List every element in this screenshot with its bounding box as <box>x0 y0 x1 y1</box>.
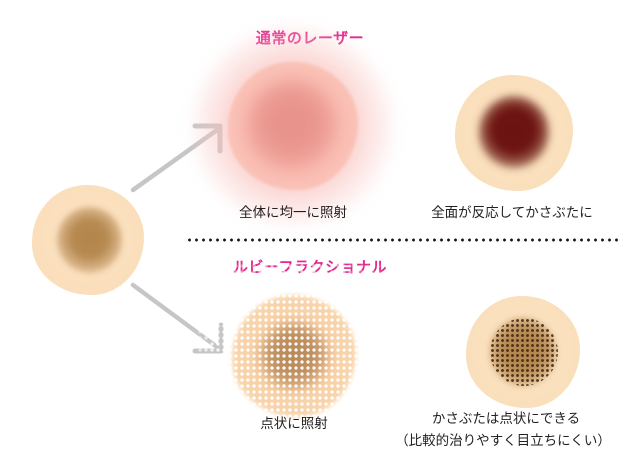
diagram-canvas: 通常のレーザー 全体に均一に照射 全面が反応してかさぶたに ルビーフラクショナル… <box>0 0 620 465</box>
caption-dotted-scab-line1: かさぶたは点状にできる <box>392 409 620 429</box>
section-title-ruby-fractional: ルビーフラクショナル <box>0 256 620 277</box>
figure-fractional-irradiation <box>232 295 356 417</box>
section-title-normal-laser: 通常のレーザー <box>0 27 620 48</box>
figure-full-surface-scab <box>455 75 573 191</box>
pigment-spot <box>490 318 556 385</box>
caption-dotted-scab-line2: （比較的治りやすく目立ちにくい） <box>386 431 620 451</box>
figure-dotted-scab <box>466 296 580 408</box>
caption-dotted-irradiation: 点状に照射 <box>232 414 356 434</box>
arrow-to-normal-laser-icon <box>125 112 235 197</box>
figure-source-skin-spot <box>32 185 144 295</box>
figure-uniform-irradiation <box>228 62 358 190</box>
pigment-spot-reacting <box>259 322 328 390</box>
arrow-to-ruby-fractional-icon <box>125 275 237 365</box>
section-divider <box>186 238 620 242</box>
caption-uniform-irradiation: 全体に均一に照射 <box>228 203 358 223</box>
caption-full-surface-scab: 全面が反応してかさぶたに <box>404 203 620 223</box>
pigment-spot-reacting <box>246 80 337 170</box>
scab-area <box>479 96 550 168</box>
